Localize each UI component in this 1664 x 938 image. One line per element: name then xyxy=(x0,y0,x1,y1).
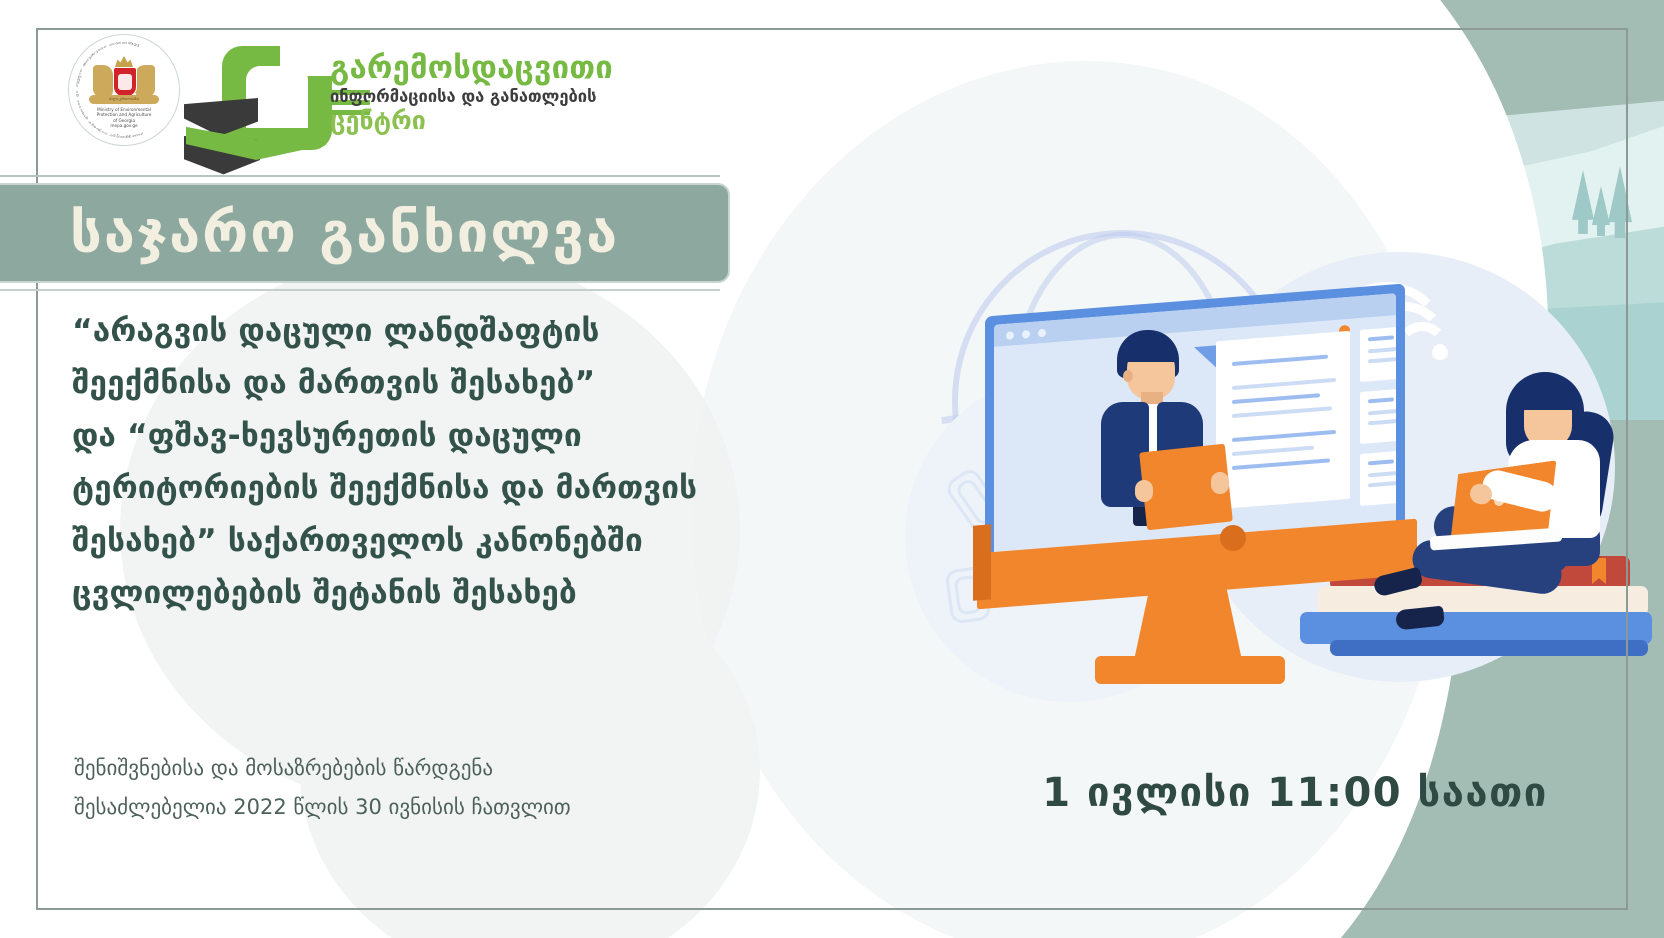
open-book-icon xyxy=(184,98,330,160)
logo-c-cut xyxy=(280,46,332,76)
document-thumb xyxy=(1360,387,1396,444)
body-line: “არაგვის დაცული ლანდშაფტის xyxy=(72,310,732,353)
poster-frame-left-rule xyxy=(36,28,38,910)
man-hand-right xyxy=(1211,472,1229,494)
logo-line-3: ცენტრი xyxy=(330,108,660,134)
man-holding-folder-illustration xyxy=(1095,330,1215,520)
logo-line-2: ინფორმაციისა და განათლების xyxy=(330,86,660,107)
center-logo-text: გარემოსდაცვითი ინფორმაციისა და განათლები… xyxy=(330,52,660,134)
seal-base-text: Ministry of Environmental Protection and… xyxy=(69,107,179,129)
seal-lion-left xyxy=(93,65,113,97)
tree-icon xyxy=(1592,186,1610,236)
seal-ring-char: ა xyxy=(77,99,80,103)
monitor-stand-side xyxy=(973,524,991,600)
seal-ribbon: ძალა ერთობაშია xyxy=(89,95,159,104)
note-line: შესაძლებელია 2022 წლის 30 ივნისის ჩათვლი… xyxy=(74,793,714,823)
monitor-foot xyxy=(1095,656,1285,684)
page-title: საჯარო განხილვა xyxy=(70,201,619,266)
book-blue-shadow xyxy=(1330,640,1648,656)
seal-base-line4: mepa.gov.ge xyxy=(69,123,179,128)
man-ear xyxy=(1123,370,1133,382)
tree-icon xyxy=(1608,166,1632,238)
ministry-seal: საქართველოს გარემოს დაცვისა და სოფლის მე… xyxy=(68,34,180,146)
note-line: შენიშვნებისა და მოსაზრებების წარდგენა xyxy=(74,754,714,784)
tree-icon xyxy=(1572,170,1594,234)
submission-note: შენიშვნებისა და მოსაზრებების წარდგენა შე… xyxy=(74,754,714,832)
body-line: შეექმნისა და მართვის შესახებ” xyxy=(72,362,732,405)
title-banner: საჯარო განხილვა xyxy=(0,183,730,283)
body-line: და “ფშავ-ხევსურეთის დაცული xyxy=(72,415,732,458)
announcement-body: “არაგვის დაცული ლანდშაფტის შეექმნისა და … xyxy=(72,310,732,625)
title-banner-wrap: საჯარო განხილვა xyxy=(0,183,730,283)
banner-rule-bottom xyxy=(0,289,720,291)
seal-ring-char: ს xyxy=(79,69,82,73)
event-datetime: 1 ივლისი 11:00 საათი xyxy=(1035,770,1555,816)
body-line: ტერიტორიების შეექმნისა და მართვის xyxy=(72,467,732,510)
poster-root: საქართველოს გარემოს დაცვისა და სოფლის მე… xyxy=(0,0,1664,938)
seal-shield-icon xyxy=(113,67,137,97)
document-sheet xyxy=(1216,331,1350,510)
banner-rule-top xyxy=(0,175,720,177)
monitor-neck xyxy=(1133,583,1243,665)
center-logo-mark xyxy=(222,46,332,150)
body-line: ცვლილებების შეტანის შესახებ xyxy=(72,572,732,615)
woman-with-laptop-illustration xyxy=(1452,372,1652,612)
seal-ring-char: ს xyxy=(103,45,107,48)
man-hand-left xyxy=(1135,480,1153,502)
monitor-knob xyxy=(1220,525,1246,551)
document-thumb xyxy=(1360,325,1396,382)
logo-line-1: გარემოსდაცვითი xyxy=(330,52,660,85)
seal-ribbon-text: ძალა ერთობაშია xyxy=(89,95,159,104)
seal-lion-right xyxy=(135,65,155,97)
body-line: შესახებ” საქართველოს კანონებში xyxy=(72,520,732,563)
document-thumb xyxy=(1360,449,1396,506)
seal-ring-char: ო xyxy=(136,44,141,48)
seal-ring-char: ს xyxy=(109,134,113,137)
seal-ring-char: ა xyxy=(76,90,78,94)
